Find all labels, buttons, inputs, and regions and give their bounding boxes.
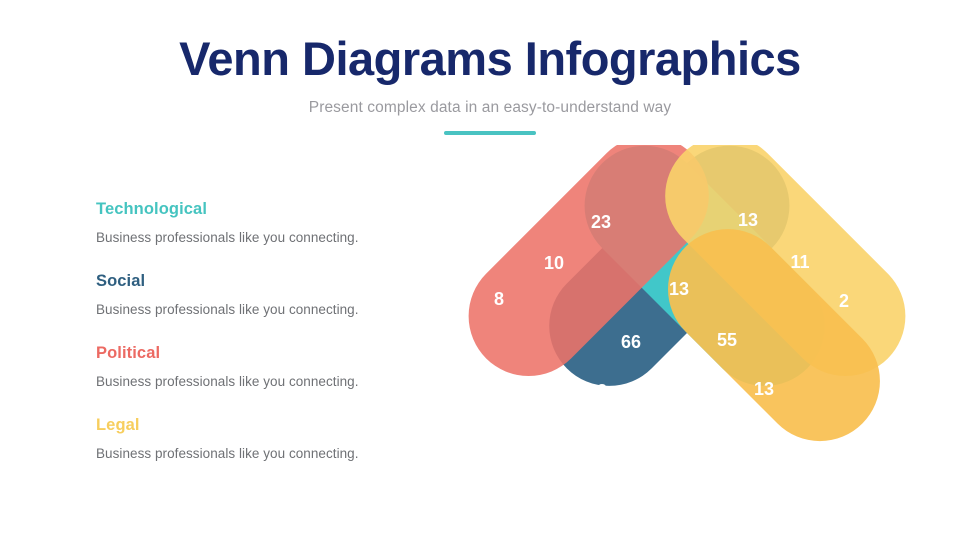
venn-value-technological-only: 13 bbox=[738, 210, 758, 230]
legend-item-description: Business professionals like you connecti… bbox=[96, 446, 416, 463]
page-title: Venn Diagrams Infographics bbox=[0, 34, 980, 85]
venn-value-legal-center: 55 bbox=[717, 330, 737, 350]
legend-item-legal[interactable]: Legal Business professionals like you co… bbox=[96, 416, 416, 463]
venn-value-political-only: 8 bbox=[494, 289, 504, 309]
infographic-slide: Venn Diagrams Infographics Present compl… bbox=[0, 0, 980, 551]
venn-value-legal-legal-right: 13 bbox=[754, 379, 774, 399]
venn-value-legal-only: 2 bbox=[839, 291, 849, 311]
venn-value-legal-core: 12 bbox=[667, 377, 687, 397]
venn-value-political-legal-left: 13 bbox=[587, 381, 607, 401]
header: Venn Diagrams Infographics Present compl… bbox=[0, 34, 980, 135]
legend-item-description: Business professionals like you connecti… bbox=[96, 230, 416, 247]
page-subtitle: Present complex data in an easy-to-under… bbox=[0, 99, 980, 117]
venn-diagram-svg: 23 13 10 11 8 2 13 66 55 13 12 13 89 33 … bbox=[455, 145, 920, 520]
legend-list: Technological Business professionals lik… bbox=[96, 200, 416, 463]
legend-item-label: Technological bbox=[96, 200, 416, 219]
legend-item-technological[interactable]: Technological Business professionals lik… bbox=[96, 200, 416, 247]
legend-item-label: Legal bbox=[96, 416, 416, 435]
legend-item-label: Social bbox=[96, 272, 416, 291]
venn-value-political-social: 10 bbox=[544, 253, 564, 273]
legend-item-political[interactable]: Political Business professionals like yo… bbox=[96, 344, 416, 391]
venn-value-legal-bottom: 12 bbox=[665, 459, 685, 479]
venn-diagram: 23 13 10 11 8 2 13 66 55 13 12 13 89 33 … bbox=[455, 145, 920, 520]
venn-value-legal-technological: 11 bbox=[790, 252, 809, 272]
venn-value-social-only: 23 bbox=[591, 212, 611, 232]
venn-value-social-technological: 13 bbox=[669, 279, 689, 299]
legend-item-social[interactable]: Social Business professionals like you c… bbox=[96, 272, 416, 319]
venn-value-legal-lower-right: 33 bbox=[700, 431, 720, 451]
legend-item-label: Political bbox=[96, 344, 416, 363]
venn-value-political-center: 66 bbox=[621, 332, 641, 352]
accent-divider bbox=[444, 131, 536, 135]
venn-value-legal-lower-left: 89 bbox=[626, 416, 646, 436]
legend-item-description: Business professionals like you connecti… bbox=[96, 302, 416, 319]
legend-item-description: Business professionals like you connecti… bbox=[96, 374, 416, 391]
